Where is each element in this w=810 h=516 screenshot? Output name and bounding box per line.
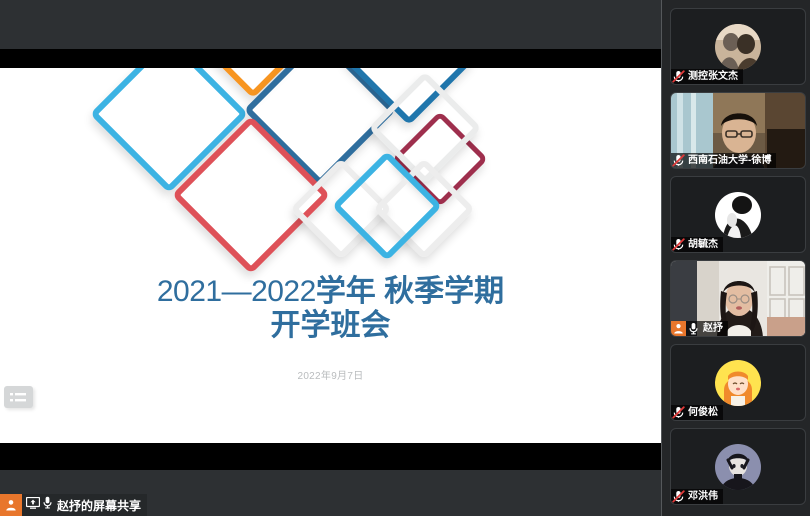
- share-status-text: 赵抒的屏幕共享: [55, 497, 141, 514]
- slide-outline-button[interactable]: [4, 386, 33, 408]
- screen-share-icon: [26, 496, 40, 514]
- screen-share-status-bar[interactable]: 赵抒的屏幕共享: [0, 494, 147, 516]
- avatar: [715, 24, 761, 70]
- participant-name: 西南石油大学-徐博: [686, 156, 771, 166]
- participant-name: 胡毓杰: [686, 240, 718, 250]
- microphone-icon: [42, 496, 53, 514]
- participant-name: 测控张文杰: [686, 72, 738, 82]
- slide-title-years: 2021—2022: [157, 275, 316, 308]
- avatar: [715, 444, 761, 490]
- slide-date: 2022年9月7日: [0, 367, 661, 382]
- participant-name: 赵抒: [701, 324, 723, 334]
- participant-name-label: 胡毓杰: [671, 237, 723, 252]
- avatar: [715, 192, 761, 238]
- participant-name-label: 测控张文杰: [671, 69, 743, 84]
- letterbox-bottom-black: [0, 443, 661, 470]
- slide-title: 2021—2022学年 秋季学期开学班会: [0, 275, 661, 343]
- microphone-muted-icon: [671, 489, 686, 504]
- participant-tile[interactable]: 西南石油大学-徐博: [670, 92, 806, 169]
- share-status-body: 赵抒的屏幕共享: [22, 494, 147, 516]
- participant-name-label: 赵抒: [671, 321, 728, 336]
- participant-tile[interactable]: 胡毓杰: [670, 176, 806, 253]
- zoom-meeting-window: 2021—2022学年 秋季学期开学班会 2022年9月7日: [0, 0, 810, 516]
- slide-title-subject: 开学班会: [271, 309, 391, 342]
- microphone-muted-icon: [671, 153, 686, 168]
- microphone-muted-icon: [671, 405, 686, 420]
- participant-video-strip[interactable]: 测控张文杰 西南石油大学-徐博 胡毓杰: [661, 0, 810, 516]
- participant-name-label: 何俊松: [671, 405, 723, 420]
- participant-name-label: 邓洪伟: [671, 489, 723, 504]
- host-person-icon: [671, 321, 686, 336]
- participant-name: 邓洪伟: [686, 492, 718, 502]
- microphone-muted-icon: [671, 69, 686, 84]
- slide-title-block: 2021—2022学年 秋季学期开学班会 2022年9月7日: [0, 275, 661, 382]
- presentation-slide: 2021—2022学年 秋季学期开学班会 2022年9月7日: [0, 68, 661, 443]
- participant-tile[interactable]: 邓洪伟: [670, 428, 806, 505]
- participant-name: 何俊松: [686, 408, 718, 418]
- microphone-muted-icon: [671, 237, 686, 252]
- participant-tile[interactable]: 赵抒: [670, 260, 806, 337]
- participant-name-label: 西南石油大学-徐博: [671, 153, 776, 168]
- avatar: [715, 360, 761, 406]
- shared-screen-region: 2021—2022学年 秋季学期开学班会 2022年9月7日: [0, 0, 661, 516]
- slide-title-term: 学年 秋季学期: [316, 275, 504, 308]
- participant-tile[interactable]: 测控张文杰: [670, 8, 806, 85]
- list-outline-icon: [10, 392, 27, 403]
- letterbox-top-black: [0, 49, 661, 68]
- microphone-icon: [686, 321, 701, 336]
- host-person-icon: [0, 494, 22, 516]
- letterbox-top-dark: [0, 0, 661, 49]
- participant-tile[interactable]: 何俊松: [670, 344, 806, 421]
